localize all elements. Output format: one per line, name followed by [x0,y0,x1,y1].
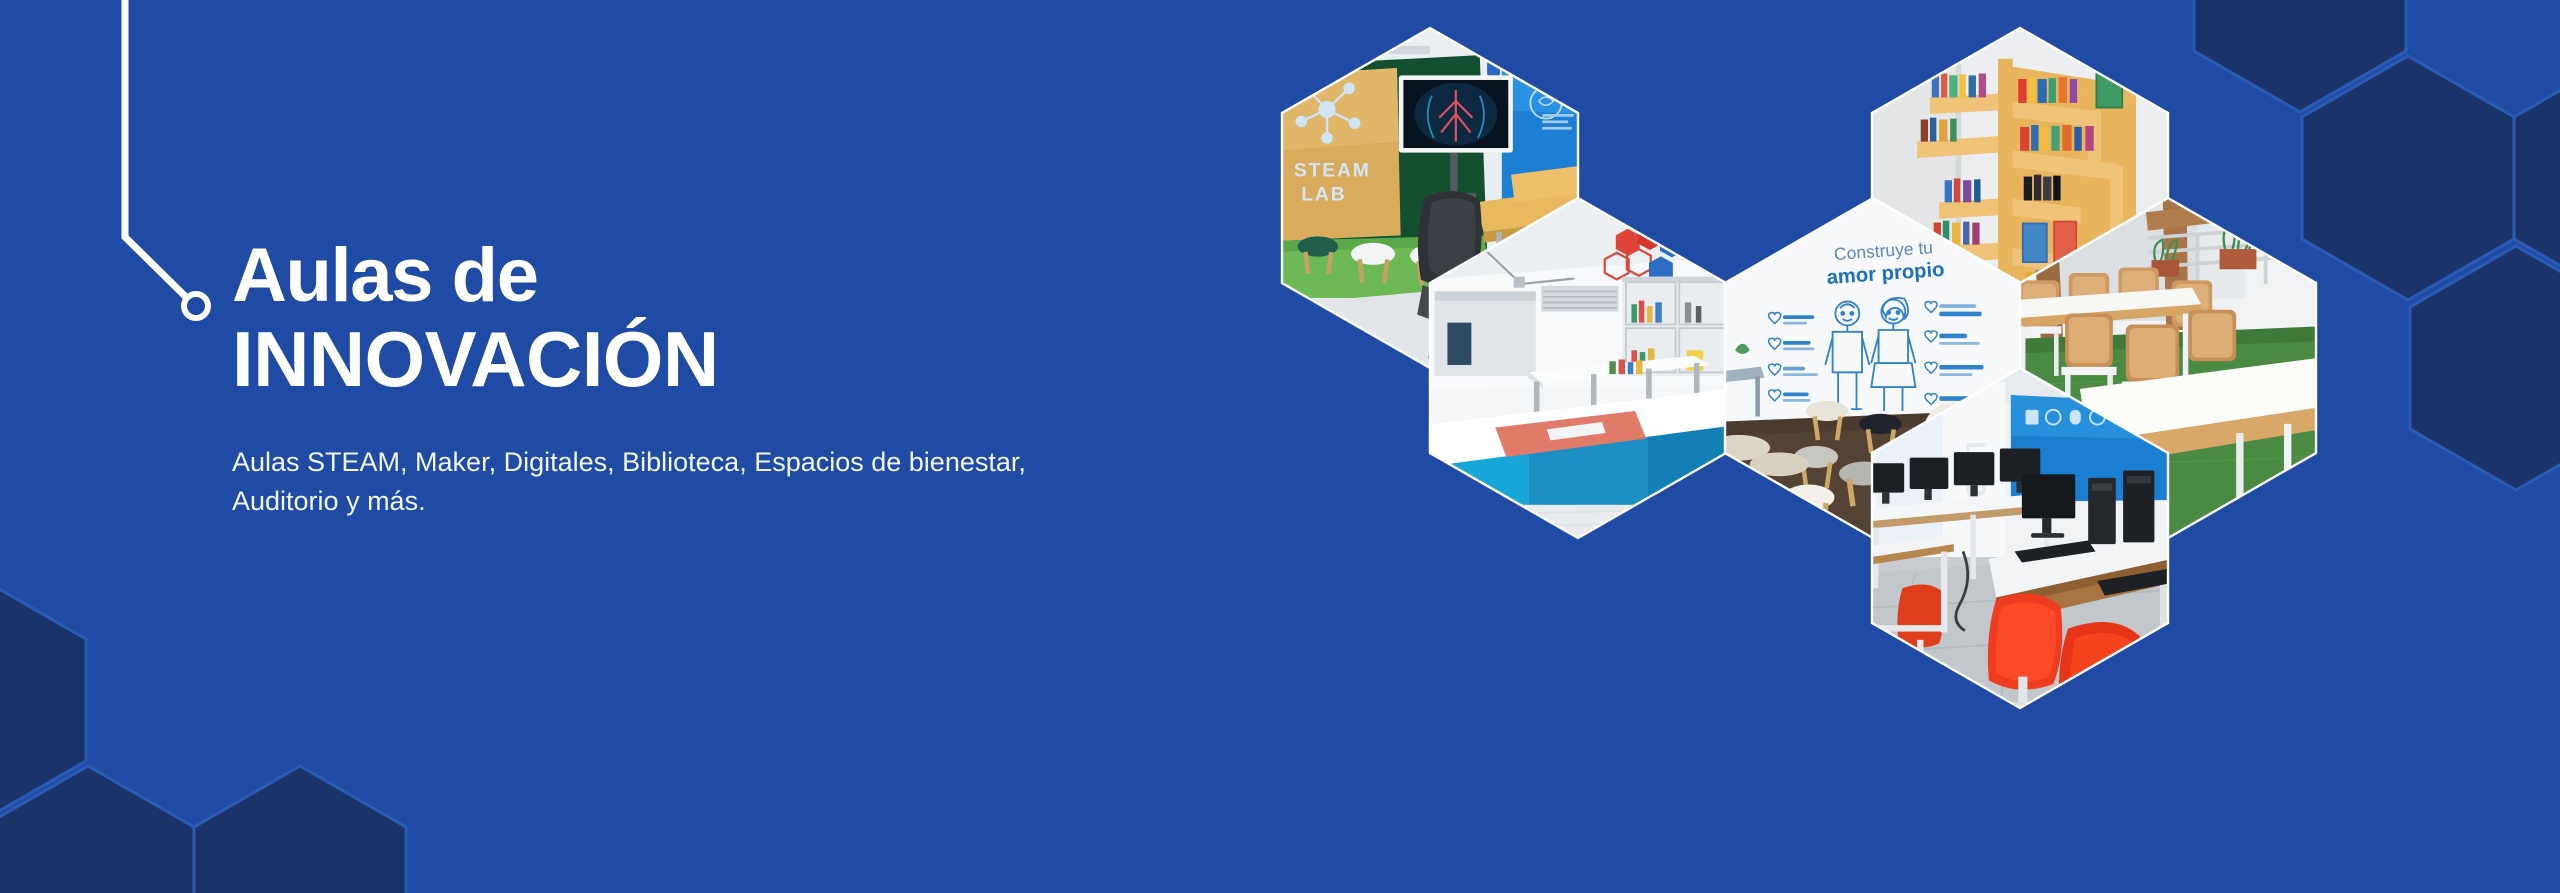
hero-subtitle: Aulas STEAM, Maker, Digitales, Bibliotec… [232,443,1072,522]
page-title-line-2: INNOVACIÓN [232,317,1132,401]
circuit-line [125,0,186,297]
bg-hex-bottom-left-3 [194,766,406,893]
circuit-node-circle [184,294,208,318]
bg-hex-bottom-left-1 [0,578,86,822]
hero-text-block: Aulas de INNOVACIÓN Aulas STEAM, Maker, … [232,236,1132,522]
hero-banner: Aulas de INNOVACIÓN Aulas STEAM, Maker, … [0,0,2560,893]
hexagon-photo-gallery: STEAM LAB [1260,0,2380,893]
page-title-line-1: Aulas de [232,236,1132,317]
bg-hex-bottom-left-2 [0,766,194,893]
bg-hex-top-right-3 [2514,56,2560,300]
bg-hex-top-right-4 [2410,246,2560,490]
